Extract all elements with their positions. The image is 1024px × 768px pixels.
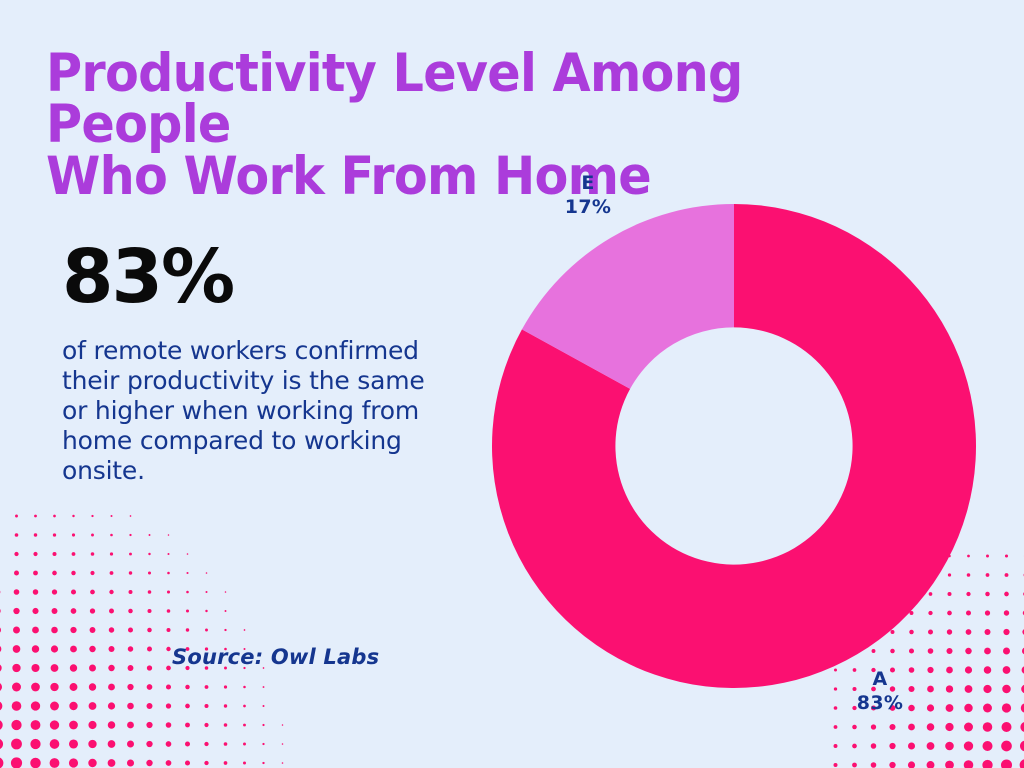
stat-description: of remote workers confirmed their produc… bbox=[62, 336, 432, 486]
chart-label-a-name: A bbox=[840, 668, 920, 692]
chart-label-a-percent: 83% bbox=[840, 692, 920, 716]
donut-chart bbox=[492, 204, 976, 688]
halftone-decoration-bottom-left bbox=[0, 514, 286, 768]
chart-label-e-name: E bbox=[548, 172, 628, 196]
big-stat-number: 83% bbox=[62, 240, 432, 314]
chart-label-a: A 83% bbox=[840, 668, 920, 716]
chart-label-e-percent: 17% bbox=[548, 196, 628, 220]
infographic-canvas: Productivity Level Among People Who Work… bbox=[0, 0, 1024, 768]
chart-label-e: E 17% bbox=[548, 172, 628, 220]
source-credit: Source: Owl Labs bbox=[172, 645, 379, 669]
stat-block: 83% of remote workers confirmed their pr… bbox=[62, 240, 432, 486]
page-title: Productivity Level Among People Who Work… bbox=[46, 48, 846, 202]
